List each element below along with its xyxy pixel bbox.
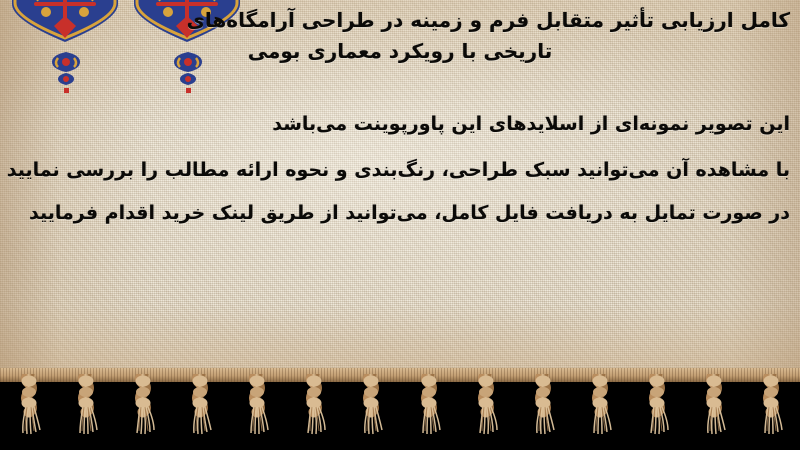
fringe-tassel [297, 374, 331, 446]
fringe-tassel [240, 374, 274, 446]
slide-body-line-3: در صورت تمایل به دریافت فایل کامل، می‌تو… [29, 202, 790, 224]
slide-text-block: کامل ارزیابی تأثیر متقابل فرم و زمینه در… [0, 0, 800, 374]
fringe-tassel [412, 374, 446, 446]
fringe-tassel [354, 374, 388, 446]
fringe-tassel [126, 374, 160, 446]
fringe-tassel [697, 374, 731, 446]
slide-title-line-1: کامل ارزیابی تأثیر متقابل فرم و زمینه در… [187, 8, 790, 32]
slide-body-line-1: این تصویر نمونه‌ای از اسلایدهای این پاور… [272, 113, 790, 135]
slide-body-line-2: با مشاهده آن می‌توانید سبک طراحی، رنگ‌بن… [7, 159, 790, 181]
slide-canvas: کامل ارزیابی تأثیر متقابل فرم و زمینه در… [0, 0, 800, 450]
carpet-selvage-edge [0, 368, 800, 382]
slide-title-line-2: تاریخی با رویکرد معماری بومی [0, 39, 800, 63]
fringe-tassel [69, 374, 103, 446]
fringe-tassel [183, 374, 217, 446]
fringe-tassel [526, 374, 560, 446]
fringe-tassel [469, 374, 503, 446]
fringe-tassel [583, 374, 617, 446]
knotted-tassel-fringe [0, 368, 800, 450]
fringe-tassel [12, 374, 46, 446]
fringe-tassel [754, 374, 788, 446]
fringe-tassel [640, 374, 674, 446]
